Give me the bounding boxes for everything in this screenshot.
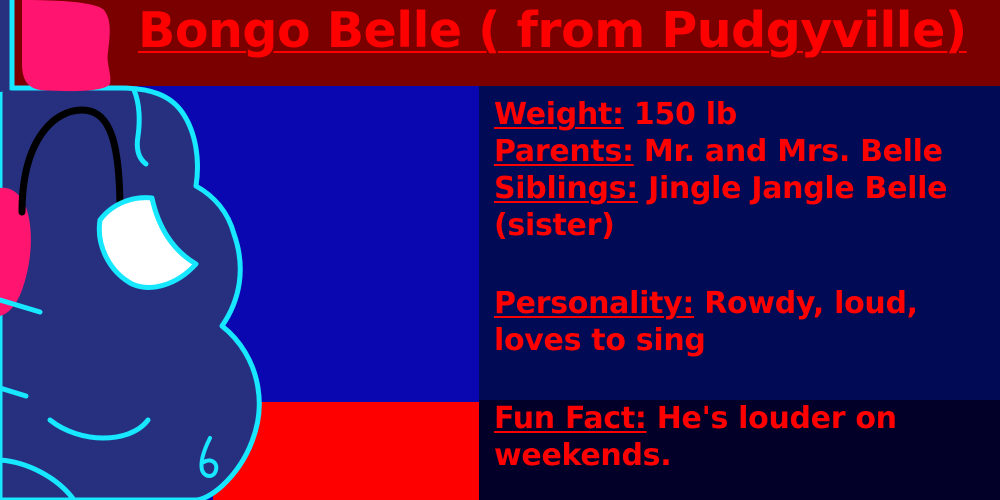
- stat-row-siblings: Siblings: Jingle Jangle Belle (sister): [494, 170, 994, 244]
- stat-value-parents: Mr. and Mrs. Belle: [644, 134, 943, 169]
- character-profile-card: Bongo Belle ( from Pudgyville) Weight: 1…: [0, 0, 1000, 500]
- stat-row-weight: Weight: 150 lb: [494, 96, 994, 133]
- stat-row-parents: Parents: Mr. and Mrs. Belle: [494, 133, 994, 170]
- bongo-belle-character-illustration: [0, 0, 360, 500]
- personality-row: Personality: Rowdy, loud, loves to sing: [494, 285, 994, 359]
- fun-fact-label: Fun Fact:: [494, 401, 647, 436]
- stat-label-weight: Weight:: [494, 97, 624, 132]
- stat-label-siblings: Siblings:: [494, 171, 638, 206]
- stats-panel: Weight: 150 lb Parents: Mr. and Mrs. Bel…: [494, 96, 994, 244]
- personality-label: Personality:: [494, 286, 694, 321]
- stat-label-parents: Parents:: [494, 134, 634, 169]
- page-title: Bongo Belle ( from Pudgyville): [138, 4, 967, 59]
- stat-value-weight: 150 lb: [634, 97, 737, 132]
- fun-fact-row: Fun Fact: He's louder on weekends.: [494, 400, 994, 474]
